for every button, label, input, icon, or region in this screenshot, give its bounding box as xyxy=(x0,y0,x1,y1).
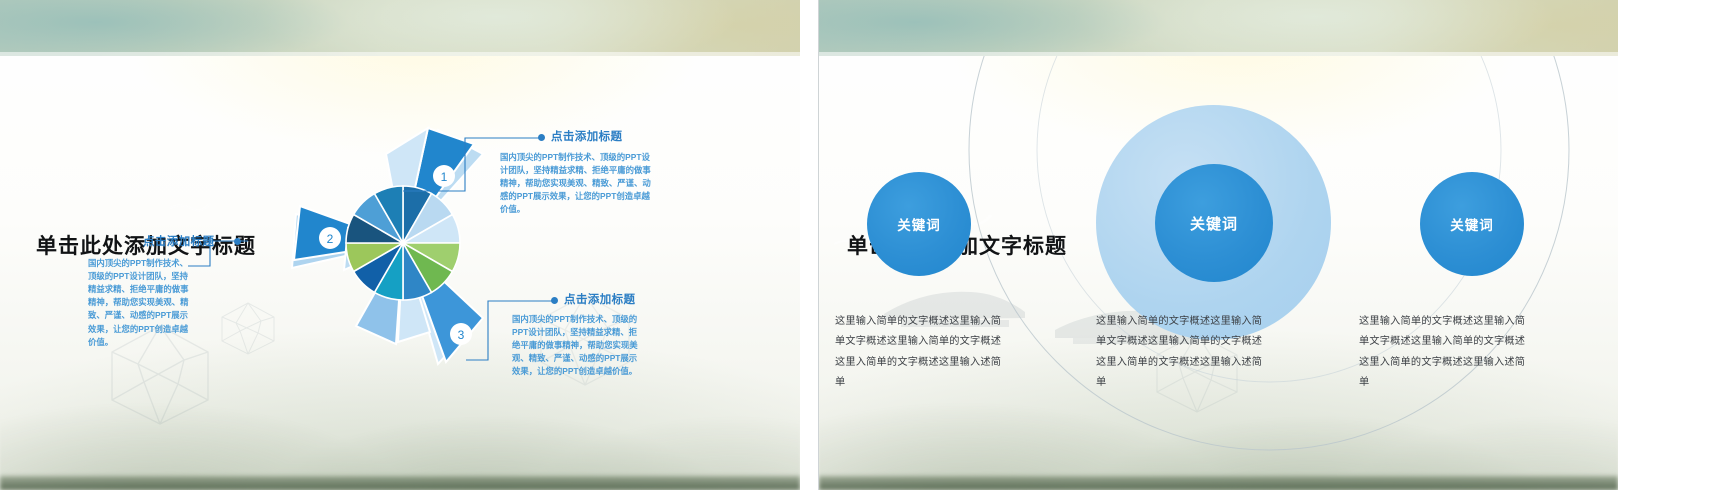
callout-3-body: 国内顶尖的PPT制作技术、顶级的PPT设计团队，坚持精益求精、拒绝平庸的做事精神… xyxy=(512,313,640,379)
connector-dot-2 xyxy=(234,238,241,245)
keyword-circle-2-label: 关键词 xyxy=(1190,213,1238,234)
keyword-circle-1[interactable]: 关键词 xyxy=(867,172,971,276)
column-text-1: 这里输入简单的文字概述这里输入简单文字概述这里输入简单的文字概述这里入简单的文字… xyxy=(835,312,1011,394)
keyword-circle-3[interactable]: 关键词 xyxy=(1420,172,1524,276)
title-bar-image xyxy=(0,0,800,56)
slide-deck: 单击此处添加文字标题 xyxy=(0,0,1720,490)
slide-right[interactable]: 单击此处添加文字标题 关键词 关键词 关键词 这里输入简单的文字概述这里输入简单… xyxy=(818,0,1618,490)
column-text-3: 这里输入简单的文字概述这里输入简单文字概述这里输入简单的文字概述这里入简单的文字… xyxy=(1359,312,1535,394)
callout-1[interactable]: 点击添加标题 xyxy=(551,128,622,144)
svg-text:2: 2 xyxy=(327,232,334,246)
keyword-circle-3-label: 关键词 xyxy=(1450,214,1494,234)
keyword-circle-2[interactable]: 关键词 xyxy=(1155,164,1273,282)
column-text-2: 这里输入简单的文字概述这里输入简单文字概述这里输入简单的文字概述这里入简单的文字… xyxy=(1096,312,1272,394)
callout-2-body: 国内顶尖的PPT制作技术、顶级的PPT设计团队，坚持精益求精、拒绝平庸的做事精神… xyxy=(88,257,196,349)
slide-left[interactable]: 单击此处添加文字标题 xyxy=(0,0,800,490)
title-bar-underline xyxy=(819,52,1618,56)
svg-text:3: 3 xyxy=(458,328,465,342)
background-foreground-strip xyxy=(0,476,800,490)
callout-2-title[interactable]: 点击添加标题 xyxy=(143,233,214,249)
background-foreground-strip xyxy=(819,476,1618,490)
crane-bird-small-icon xyxy=(168,196,212,222)
slide-gap xyxy=(800,0,818,490)
connector-dot-3 xyxy=(551,297,558,304)
callout-3-title[interactable]: 点击添加标题 xyxy=(564,291,635,307)
petal-badge-2: 2 xyxy=(319,227,341,249)
callout-1-body: 国内顶尖的PPT制作技术、顶级的PPT设计团队，坚持精益求精、拒绝平庸的做事精神… xyxy=(500,151,652,217)
lattice-ornament-small-icon xyxy=(218,300,278,356)
slide-left-title-bar xyxy=(0,0,800,56)
connector-dot-1 xyxy=(538,134,545,141)
callout-2[interactable]: 点击添加标题 xyxy=(143,233,214,249)
title-bar-image xyxy=(819,0,1618,56)
callout-1-title[interactable]: 点击添加标题 xyxy=(551,128,622,144)
keyword-circle-1-label: 关键词 xyxy=(897,214,941,234)
title-bar-underline xyxy=(0,52,800,56)
callout-3[interactable]: 点击添加标题 xyxy=(564,291,635,307)
slide-right-title-bar xyxy=(819,0,1618,56)
